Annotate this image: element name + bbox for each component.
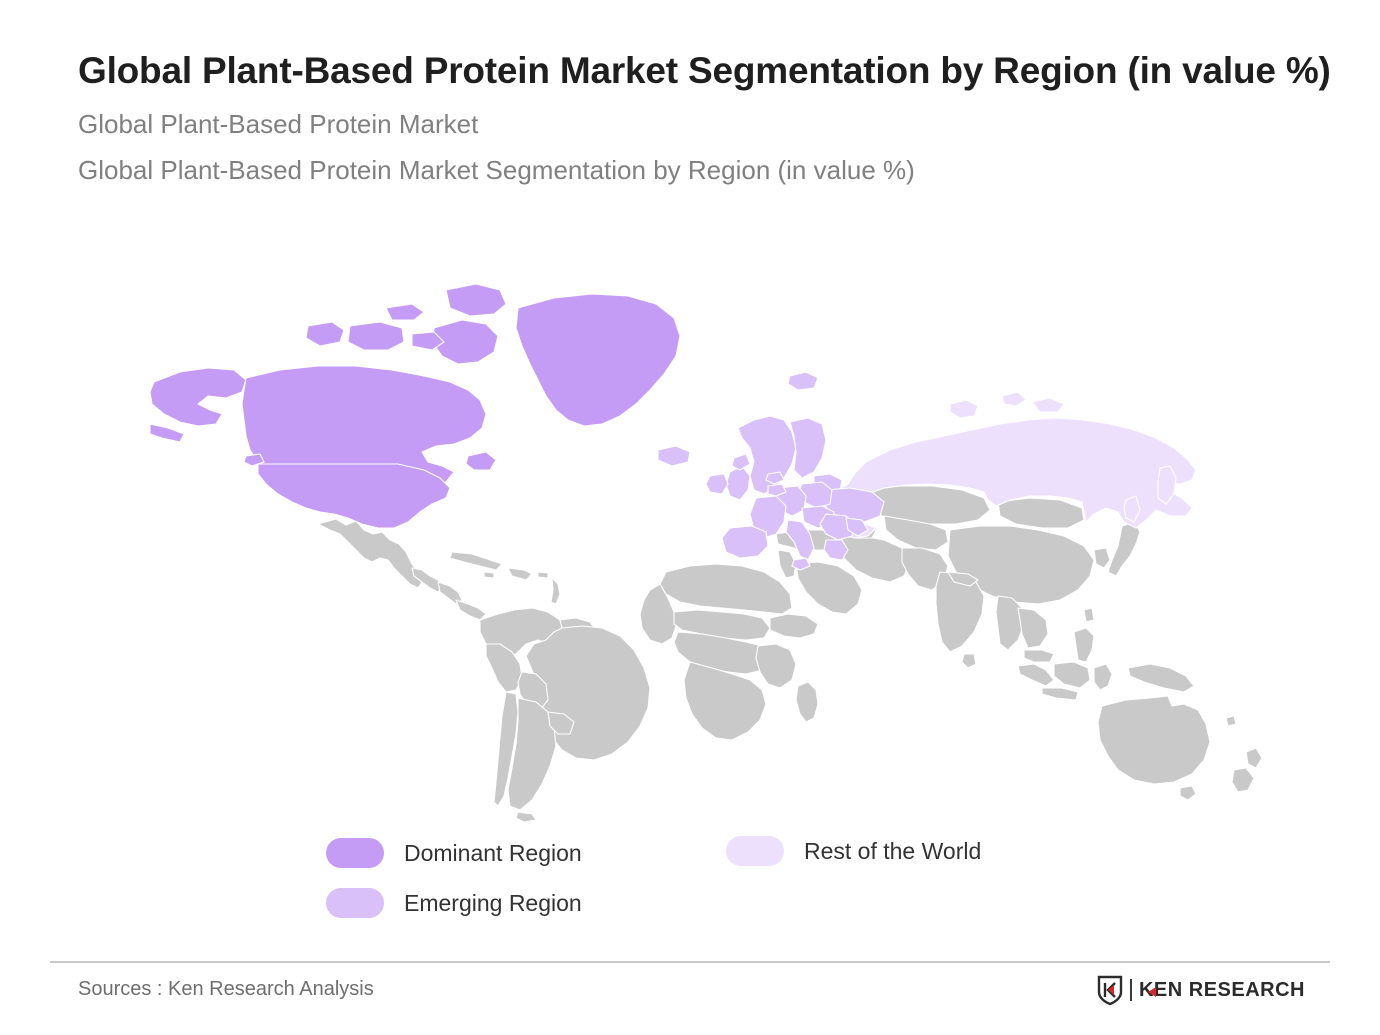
- island-lesser-antilles: [551, 578, 560, 604]
- island-arctic-small-1: [386, 304, 424, 320]
- legend-swatch-emerging: [326, 888, 384, 918]
- legend-item-rest-of-world[interactable]: Rest of the World: [726, 836, 981, 866]
- map-legend: Dominant Region Emerging Region Rest of …: [326, 836, 1086, 936]
- region-east-africa: [756, 644, 796, 688]
- region-north-africa: [660, 564, 792, 614]
- country-greece: [824, 540, 848, 560]
- island-novaya-zemlya: [950, 400, 978, 418]
- region-southern-africa: [684, 662, 766, 740]
- island-banks: [306, 322, 344, 346]
- legend-swatch-dominant: [326, 838, 384, 868]
- page-title: Global Plant-Based Protein Market Segmen…: [78, 50, 1348, 93]
- legend-label-emerging: Emerging Region: [404, 890, 582, 917]
- island-cuba: [450, 552, 502, 570]
- country-svalbard: [788, 372, 818, 390]
- region-arabia: [796, 562, 862, 614]
- island-greenland: [516, 294, 680, 426]
- country-iceland: [658, 446, 690, 466]
- region-horn-of-africa: [770, 614, 818, 638]
- country-korea: [1094, 548, 1110, 568]
- region-mongolia: [998, 498, 1084, 528]
- island-aleutians: [150, 424, 184, 442]
- brand-separator: [1130, 979, 1132, 1001]
- world-map-svg: [150, 272, 1280, 832]
- country-spain-portugal: [722, 526, 768, 558]
- shield-k-logo-icon: [1097, 975, 1123, 1005]
- island-newfoundland: [466, 452, 496, 470]
- island-madagascar: [796, 682, 818, 722]
- island-sulawesi: [1094, 664, 1112, 690]
- region-dominant-north-america: [150, 284, 680, 528]
- subtitle-market: Global Plant-Based Protein Market: [78, 109, 1358, 140]
- island-new-guinea: [1128, 664, 1194, 692]
- island-ellesmere: [446, 284, 506, 316]
- legend-swatch-rest-of-world: [726, 836, 784, 866]
- header: Global Plant-Based Protein Market Segmen…: [78, 50, 1358, 186]
- island-hispaniola: [508, 568, 532, 580]
- country-australia: [1098, 696, 1210, 784]
- subtitle-segmentation: Global Plant-Based Protein Market Segmen…: [78, 155, 1358, 186]
- island-tierra-del-fuego: [516, 812, 536, 822]
- country-alaska: [150, 368, 246, 426]
- footer-divider: [50, 961, 1330, 963]
- island-jamaica: [484, 572, 494, 578]
- legend-item-emerging-region[interactable]: Emerging Region: [326, 888, 582, 918]
- legend-label-dominant: Dominant Region: [404, 840, 582, 867]
- brand-logo: KEN RESEARCH: [1097, 975, 1305, 1005]
- country-finland: [790, 418, 826, 478]
- source-note: Sources : Ken Research Analysis: [78, 978, 374, 1001]
- country-usa: [258, 464, 450, 528]
- legend-label-rest-of-world: Rest of the World: [804, 838, 981, 865]
- brand-name: KEN RESEARCH: [1139, 979, 1305, 1002]
- country-costarica-panama: [456, 600, 486, 620]
- island-taiwan: [1084, 608, 1094, 622]
- slide-canvas: Global Plant-Based Protein Market Segmen…: [0, 0, 1380, 1035]
- island-sumatra: [1018, 664, 1054, 686]
- legend-item-dominant-region[interactable]: Dominant Region: [326, 838, 582, 868]
- island-arctic-russia: [1032, 398, 1064, 412]
- island-severnaya-zemlya: [1002, 392, 1026, 406]
- island-fiji: [1226, 716, 1236, 726]
- island-victoria: [348, 322, 404, 350]
- country-mexico: [318, 519, 422, 588]
- world-map: [150, 272, 1280, 832]
- island-puertorico: [538, 572, 548, 578]
- island-borneo: [1054, 662, 1090, 688]
- country-scotland: [732, 454, 750, 470]
- island-new-zealand-north: [1246, 748, 1262, 768]
- brand-red-triangle-icon: [1148, 987, 1156, 997]
- island-new-zealand-south: [1232, 768, 1254, 792]
- country-japan: [1108, 522, 1140, 576]
- island-tasmania: [1180, 786, 1196, 800]
- country-ireland: [706, 474, 728, 494]
- region-indochina: [1018, 608, 1048, 648]
- island-philippines: [1074, 628, 1094, 662]
- country-uk: [726, 466, 750, 500]
- island-sri-lanka: [962, 654, 976, 668]
- region-malaysia: [1024, 650, 1054, 662]
- island-java: [1042, 688, 1078, 700]
- region-myanmar-thailand: [996, 596, 1024, 650]
